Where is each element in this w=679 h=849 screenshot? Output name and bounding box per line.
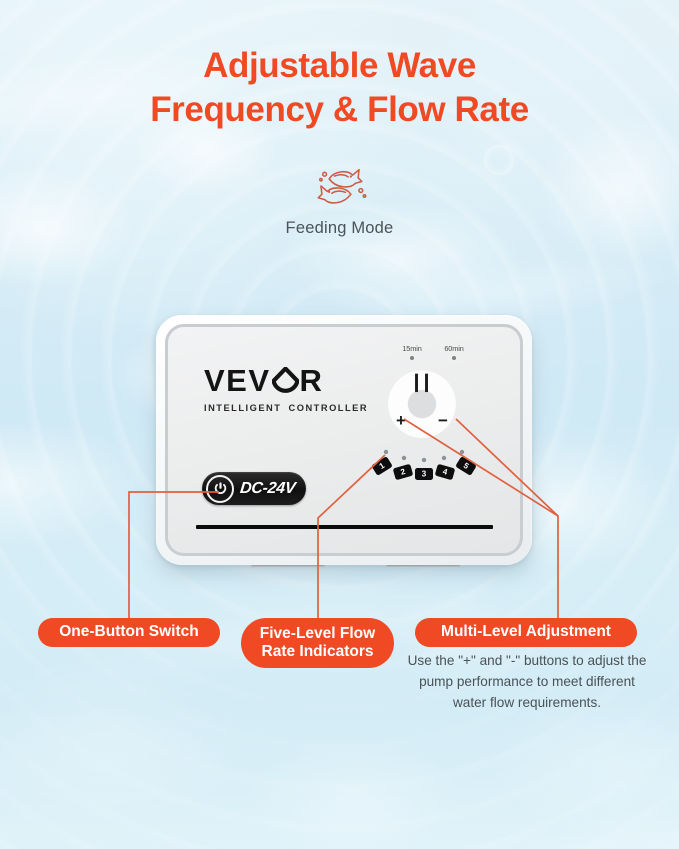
flow-led-4: [442, 456, 446, 460]
brand-logo-text-tail: R: [300, 365, 324, 396]
callout-badge-multi-level-adjustment: Multi-Level Adjustment: [415, 618, 637, 647]
base-slot-right: [386, 565, 460, 568]
dial-hub: [408, 390, 436, 418]
callout-badge-one-button-switch: One-Button Switch: [38, 618, 220, 647]
headline-line-1: Adjustable Wave: [203, 46, 476, 85]
pause-icon: ┃┃: [385, 376, 459, 391]
panel-divider-bar: [196, 525, 493, 529]
flow-level-arc: 1 2 3 4: [371, 443, 477, 485]
device-base-slots: [165, 563, 523, 571]
callout-title-1: One-Button Switch: [59, 623, 199, 641]
flow-led-1: [384, 450, 388, 454]
headline-line-2: Frequency & Flow Rate: [0, 88, 679, 132]
feeding-mode-label: Feeding Mode: [0, 219, 679, 238]
device-frame: VEV R INTELLIGENT CONTROLLER 15min 60min: [165, 324, 523, 556]
flow-tab-2[interactable]: 2: [393, 464, 414, 480]
brand-subtitle: INTELLIGENT CONTROLLER: [204, 403, 368, 413]
flow-led-3: [422, 458, 426, 462]
callout-title-2-line2: Rate Indicators: [262, 643, 374, 660]
timer-15min: 15min: [397, 344, 427, 360]
device-face-panel: [168, 327, 520, 553]
power-icon: [206, 475, 234, 503]
brand-logo: VEV R: [204, 365, 368, 396]
callout-title-2-line1: Five-Level Flow: [260, 625, 375, 642]
flow-tab-5[interactable]: 5: [455, 456, 477, 476]
control-dial[interactable]: ┃┃ + −: [385, 367, 459, 441]
timer-60min-label: 60min: [439, 344, 469, 353]
timer-indicators: 15min 60min: [397, 344, 469, 360]
page-title: Adjustable Wave Frequency & Flow Rate: [0, 44, 679, 132]
timer-60min-led: [452, 356, 456, 360]
flow-tab-1[interactable]: 1: [371, 456, 393, 476]
brand-block: VEV R INTELLIGENT CONTROLLER: [204, 365, 368, 413]
base-slot-left: [251, 565, 325, 568]
minus-icon: −: [436, 412, 450, 429]
brand-logo-text: VEV: [204, 365, 271, 396]
callout-title-3: Multi-Level Adjustment: [441, 623, 611, 641]
timer-15min-label: 15min: [397, 344, 427, 353]
flow-tab-4[interactable]: 4: [435, 464, 456, 480]
vevor-o-icon: [272, 367, 299, 395]
product-feature-graphic: Adjustable Wave Frequency & Flow Rate Fe…: [0, 0, 679, 849]
feeding-mode-block: Feeding Mode: [0, 160, 679, 238]
flow-level-indicators: 1 2 3 4: [371, 443, 477, 485]
timer-15min-led: [410, 356, 414, 360]
svg-text:3: 3: [422, 469, 427, 478]
power-button[interactable]: DC-24V: [202, 472, 306, 505]
callout-description-multi-level-adjustment: Use the "+" and "-" buttons to adjust th…: [404, 650, 650, 713]
timer-60min: 60min: [439, 344, 469, 360]
power-voltage-label: DC-24V: [239, 480, 296, 498]
flow-tab-3[interactable]: 3: [415, 468, 433, 480]
two-fish-icon: [311, 160, 369, 212]
flow-led-5: [460, 450, 464, 454]
callout-title-2: Five-Level Flow Rate Indicators: [260, 625, 375, 662]
callout-badge-flow-indicators: Five-Level Flow Rate Indicators: [241, 618, 394, 668]
flow-led-2: [402, 456, 406, 460]
plus-icon: +: [394, 412, 408, 429]
controller-device: VEV R INTELLIGENT CONTROLLER 15min 60min: [156, 315, 532, 565]
